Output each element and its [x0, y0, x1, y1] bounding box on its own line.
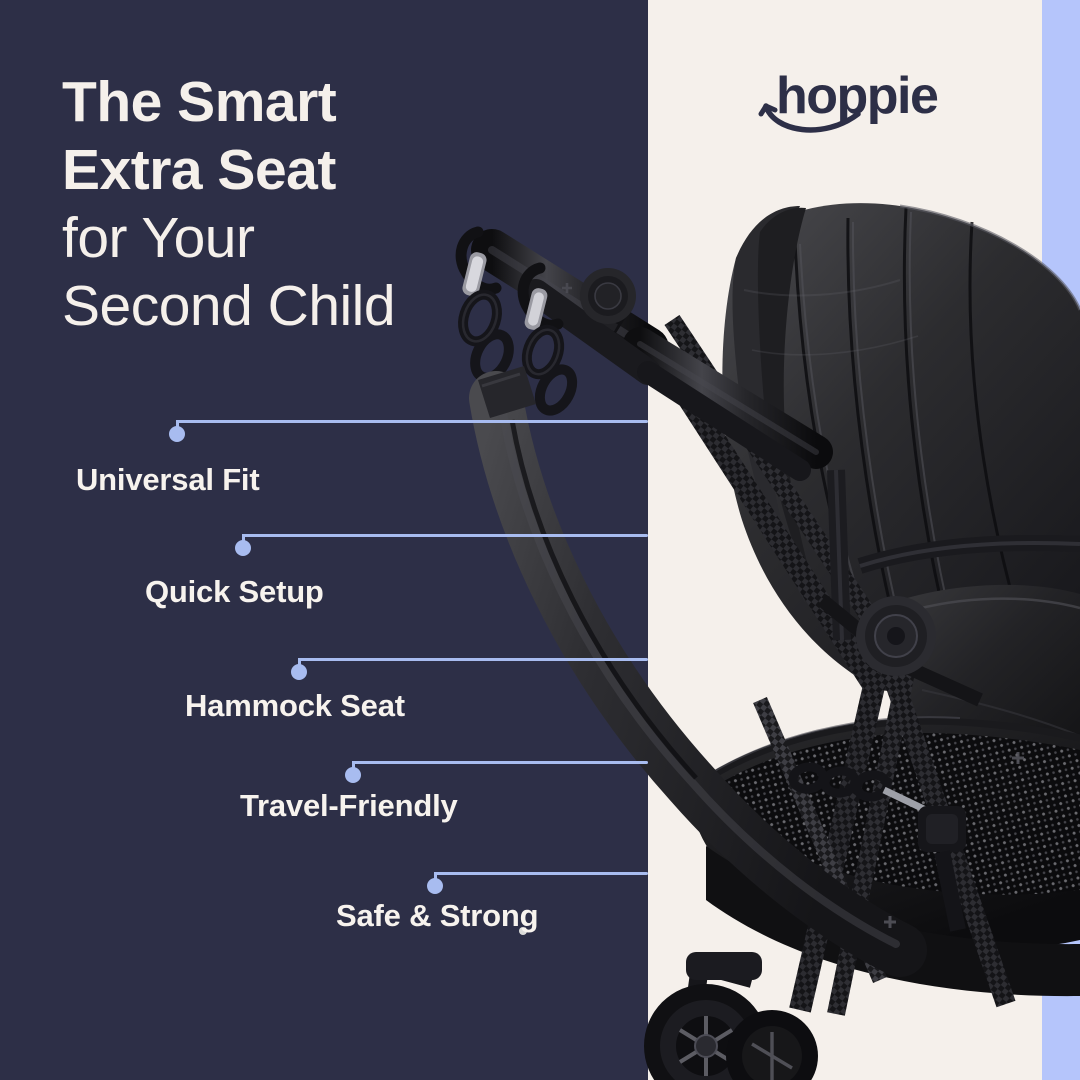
callout-line-horizontal	[352, 761, 648, 764]
callout-line-horizontal	[434, 872, 648, 875]
callout-line-horizontal	[242, 534, 648, 537]
callout-dot	[169, 426, 185, 442]
smile-arrow-swoosh-icon	[758, 96, 868, 140]
callout-dot	[345, 767, 361, 783]
callout-line-horizontal	[298, 658, 648, 661]
callout-dot	[291, 664, 307, 680]
feature-callout-list: Universal Fit Quick Setup Hammock Seat T…	[0, 0, 1080, 1080]
callout-dot	[235, 540, 251, 556]
callout-label: Quick Setup	[145, 574, 324, 610]
callout-label: Travel-Friendly	[240, 788, 458, 824]
callout-label: Hammock Seat	[185, 688, 405, 724]
marketing-graphic: The Smart Extra Seat for Your Second Chi…	[0, 0, 1080, 1080]
callout-label: Safe & Strong	[336, 898, 538, 934]
brand-logo: hoppie	[758, 68, 944, 140]
callout-label: Universal Fit	[76, 462, 259, 498]
callout-line-horizontal	[176, 420, 648, 423]
callout-dot	[427, 878, 443, 894]
